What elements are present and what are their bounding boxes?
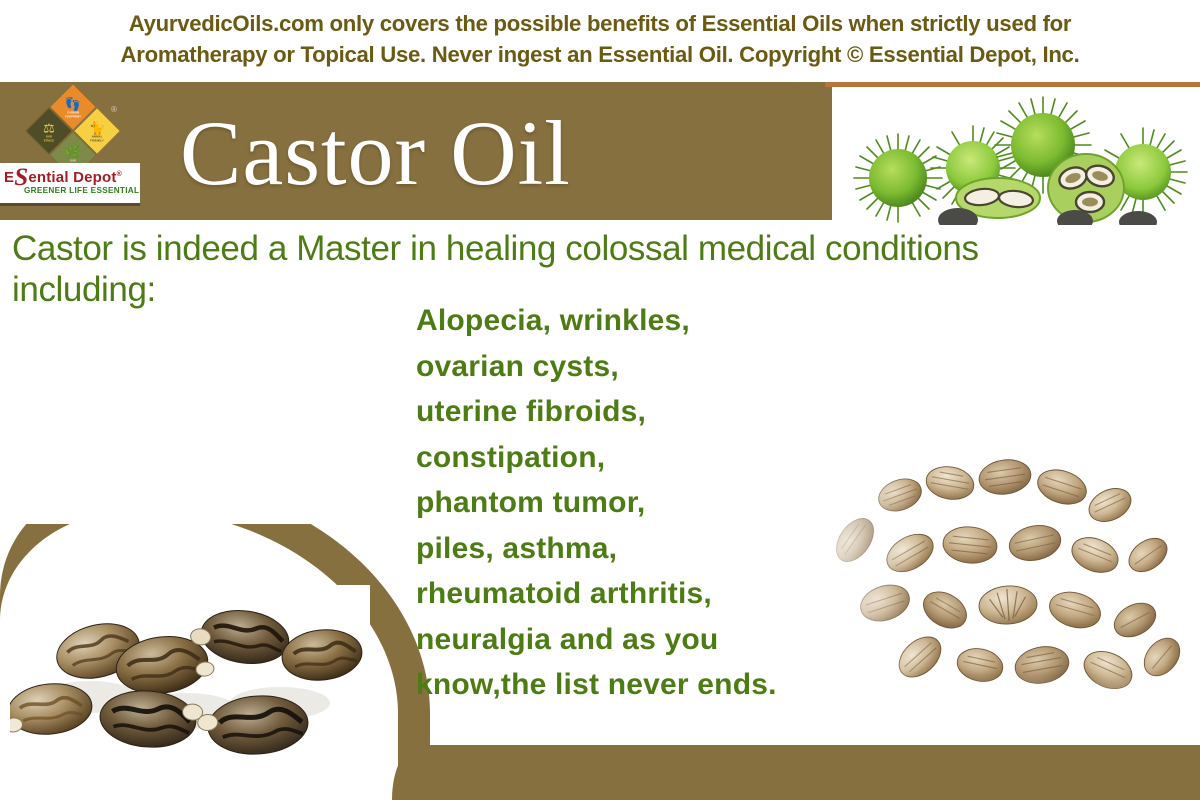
- condition-line: ovarian cysts,: [416, 344, 886, 390]
- dark-castor-beans-photo: [10, 585, 370, 770]
- brand-rest-text: ential Depot: [28, 169, 116, 186]
- condition-line: neuralgia and as you: [416, 617, 886, 663]
- logo-quadrant-label-1: ANIMAL: [92, 135, 103, 138]
- green-castor-pods-photo: [838, 90, 1200, 225]
- condition-line: piles, asthma,: [416, 526, 886, 572]
- condition-list: Alopecia, wrinkles, ovarian cysts, uteri…: [416, 298, 886, 708]
- bottom-brown-band-rect: [414, 745, 1200, 800]
- disclaimer-line-1: AyurvedicOils.com only covers the possib…: [27, 8, 1174, 39]
- pods-illustration: [838, 90, 1200, 225]
- condition-line: Alopecia, wrinkles,: [416, 298, 886, 344]
- logo-quadrant-label-1: CARBON: [67, 111, 79, 114]
- condition-line: constipation,: [416, 435, 886, 481]
- leaf-glyph: 🌿: [65, 146, 81, 158]
- condition-line: know,the list never ends.: [416, 662, 886, 708]
- divider-segment-right: [825, 82, 1200, 87]
- registered-trademark-icon: ®: [111, 106, 117, 114]
- logo-quadrant-label-2: ETHICS: [44, 139, 54, 142]
- condition-line: uterine fibroids,: [416, 389, 886, 435]
- dark-beans-illustration: [10, 585, 370, 770]
- brand-letter-e: E: [4, 169, 14, 186]
- logo-quadrant-label-2: FOOTPRINT: [65, 115, 81, 118]
- logo-quadrant-label-1: OUR: [70, 159, 76, 162]
- page-title: Castor Oil: [180, 92, 800, 217]
- scales-glyph: ⚖: [43, 122, 55, 134]
- essential-depot-wordmark: ESential Depot® GREENER LIFE ESSENTIALS: [0, 163, 140, 206]
- footprint-glyph: 👣: [65, 98, 81, 110]
- logo-quadrant-label-1: OUR: [46, 135, 52, 138]
- condition-line: phantom tumor,: [416, 480, 886, 526]
- animal-glyph: 🐈: [89, 122, 105, 134]
- essential-depot-logo: 👣 CARBON FOOTPRINT 🐈 ANIMAL FRIENDLY ⚖ O…: [10, 95, 140, 203]
- headline-line-1: Castor is indeed a Master in healing col…: [12, 228, 1200, 269]
- logo-quadrant-label-2: FRIENDLY: [90, 139, 104, 142]
- brand-registered-icon: ®: [117, 171, 122, 178]
- infographic-page: AyurvedicOils.com only covers the possib…: [0, 0, 1200, 800]
- depot-brand-text: ESential Depot®: [4, 167, 122, 186]
- disclaimer-banner: AyurvedicOils.com only covers the possib…: [0, 0, 1200, 78]
- depot-tagline: GREENER LIFE ESSENTIALS: [24, 186, 140, 195]
- disclaimer-line-2: Aromatherapy or Topical Use. Never inges…: [27, 39, 1174, 70]
- condition-line: rheumatoid arthritis,: [416, 571, 886, 617]
